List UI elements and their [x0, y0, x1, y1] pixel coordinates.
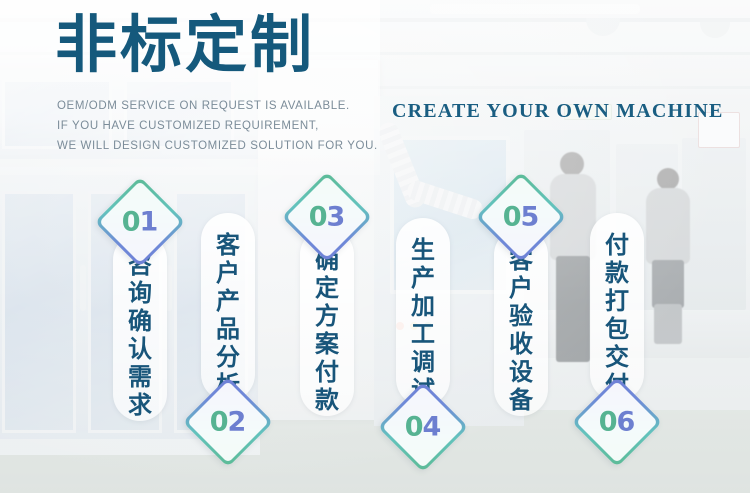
step-number-02: 02	[210, 407, 246, 438]
process-steps: 咨询确认需求 01 客户产品分析 02 确定方案付款	[0, 0, 750, 493]
step-badge-inner: 01	[99, 181, 181, 263]
step-badge-05: 05	[476, 172, 567, 263]
step-badge-02: 02	[183, 377, 274, 468]
step-label-02: 客户产品分析	[213, 231, 243, 399]
step-pill-04: 生产加工调试	[396, 218, 450, 406]
custom-machine-banner: 非标定制 OEM/ODM SERVICE ON REQUEST IS AVAIL…	[0, 0, 750, 493]
step-label-04: 生产加工调试	[408, 236, 438, 404]
step-number-04: 04	[405, 412, 441, 443]
step-badge-inner: 02	[187, 381, 269, 463]
step-number-06: 06	[599, 407, 635, 438]
step-badge-inner: 06	[576, 381, 658, 463]
step-label-06: 付款打包交付	[602, 231, 632, 399]
step-badge-inner: 03	[286, 176, 368, 258]
step-label-01: 咨询确认需求	[125, 251, 155, 419]
step-badge-04: 04	[378, 382, 469, 473]
step-pill-02: 客户产品分析	[201, 213, 255, 401]
step-number-05: 05	[503, 202, 539, 233]
step-label-05: 客户验收设备	[506, 246, 536, 414]
step-badge-06: 06	[572, 377, 663, 468]
step-label-03: 确定方案付款	[312, 246, 342, 414]
step-badge-01: 01	[95, 177, 186, 268]
step-badge-inner: 05	[480, 176, 562, 258]
step-pill-06: 付款打包交付	[590, 213, 644, 401]
step-badge-03: 03	[282, 172, 373, 263]
step-number-01: 01	[122, 207, 158, 238]
step-number-03: 03	[309, 202, 345, 233]
step-badge-inner: 04	[382, 386, 464, 468]
